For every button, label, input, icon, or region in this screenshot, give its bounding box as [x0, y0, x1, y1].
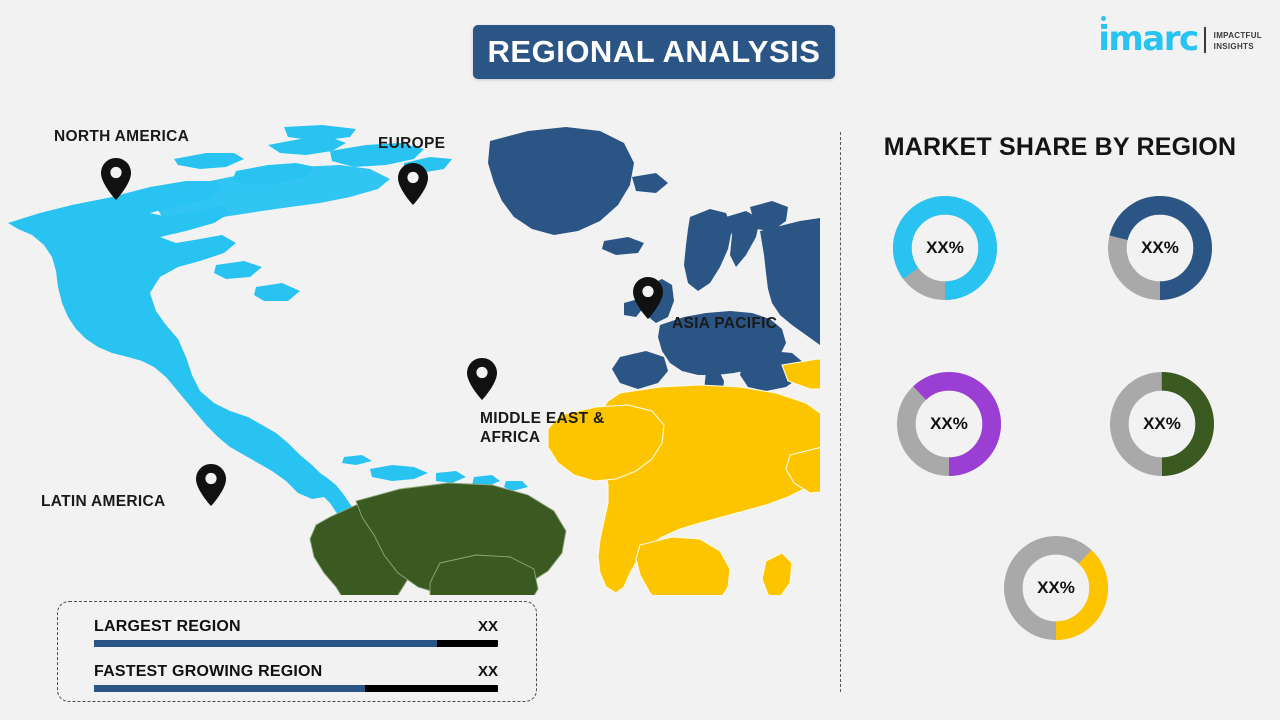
- map-region-north-america: [8, 125, 528, 533]
- map-label-europe: EUROPE: [378, 134, 445, 153]
- map-label-middle-east-africa: MIDDLE EAST & AFRICA: [480, 409, 604, 448]
- map-region-latin-america: [310, 483, 566, 595]
- donut-chart-asia-pacific: XX%: [893, 368, 1005, 480]
- logo-tagline-line-1: IMPACTFUL: [1214, 31, 1262, 42]
- region-summary-box: LARGEST REGION XX FASTEST GROWING REGION…: [57, 601, 537, 702]
- largest-region-bar-fill: [94, 640, 437, 647]
- largest-region-bar: [94, 640, 498, 647]
- donut-value-middle-east-africa: XX%: [1000, 532, 1112, 644]
- map-pin-europe-icon[interactable]: [398, 163, 428, 205]
- map-pin-middle-east-africa-icon[interactable]: [467, 358, 497, 400]
- imarc-logo: imarc IMPACTFUL INSIGHTS: [1098, 22, 1262, 56]
- logo-wordmark: imarc: [1098, 22, 1197, 56]
- fastest-growing-region-bar: [94, 685, 498, 692]
- donut-chart-north-america: XX%: [889, 192, 1001, 304]
- donut-chart-middle-east-africa: XX%: [1000, 532, 1112, 644]
- map-region-europe: [488, 127, 820, 409]
- legend-row-largest-region: LARGEST REGION XX: [94, 618, 498, 647]
- legend-row-fastest-growing-region: FASTEST GROWING REGION XX: [94, 663, 498, 692]
- largest-region-value: XX: [478, 618, 498, 635]
- logo-divider: [1204, 27, 1206, 53]
- map-label-north-america: NORTH AMERICA: [54, 127, 189, 146]
- map-label-asia-pacific: ASIA PACIFIC: [672, 314, 777, 333]
- market-share-title: MARKET SHARE BY REGION: [840, 133, 1280, 162]
- page-title-text: REGIONAL ANALYSIS: [488, 34, 821, 70]
- donut-value-asia-pacific: XX%: [893, 368, 1005, 480]
- donut-value-north-america: XX%: [889, 192, 1001, 304]
- map-pin-north-america-icon[interactable]: [101, 158, 131, 200]
- donut-chart-europe: XX%: [1104, 192, 1216, 304]
- map-label-latin-america: LATIN AMERICA: [41, 492, 165, 511]
- map-pin-latin-america-icon[interactable]: [196, 464, 226, 506]
- donut-value-europe: XX%: [1104, 192, 1216, 304]
- section-divider: [840, 132, 841, 692]
- logo-tagline: IMPACTFUL INSIGHTS: [1214, 31, 1262, 56]
- donut-value-latin-america: XX%: [1106, 368, 1218, 480]
- map-pin-asia-pacific-icon[interactable]: [633, 277, 663, 319]
- fastest-growing-region-bar-fill: [94, 685, 365, 692]
- fastest-growing-region-label: FASTEST GROWING REGION: [94, 663, 322, 681]
- logo-tagline-line-2: INSIGHTS: [1214, 42, 1262, 53]
- fastest-growing-region-value: XX: [478, 663, 498, 680]
- largest-region-label: LARGEST REGION: [94, 618, 241, 636]
- map-region-middle-east-africa: [548, 359, 820, 595]
- logo-wordmark-text: imarc: [1098, 19, 1197, 59]
- page-title: REGIONAL ANALYSIS: [473, 25, 835, 79]
- donut-chart-latin-america: XX%: [1106, 368, 1218, 480]
- infographic-canvas: REGIONAL ANALYSIS imarc IMPACTFUL INSIGH…: [0, 0, 1280, 720]
